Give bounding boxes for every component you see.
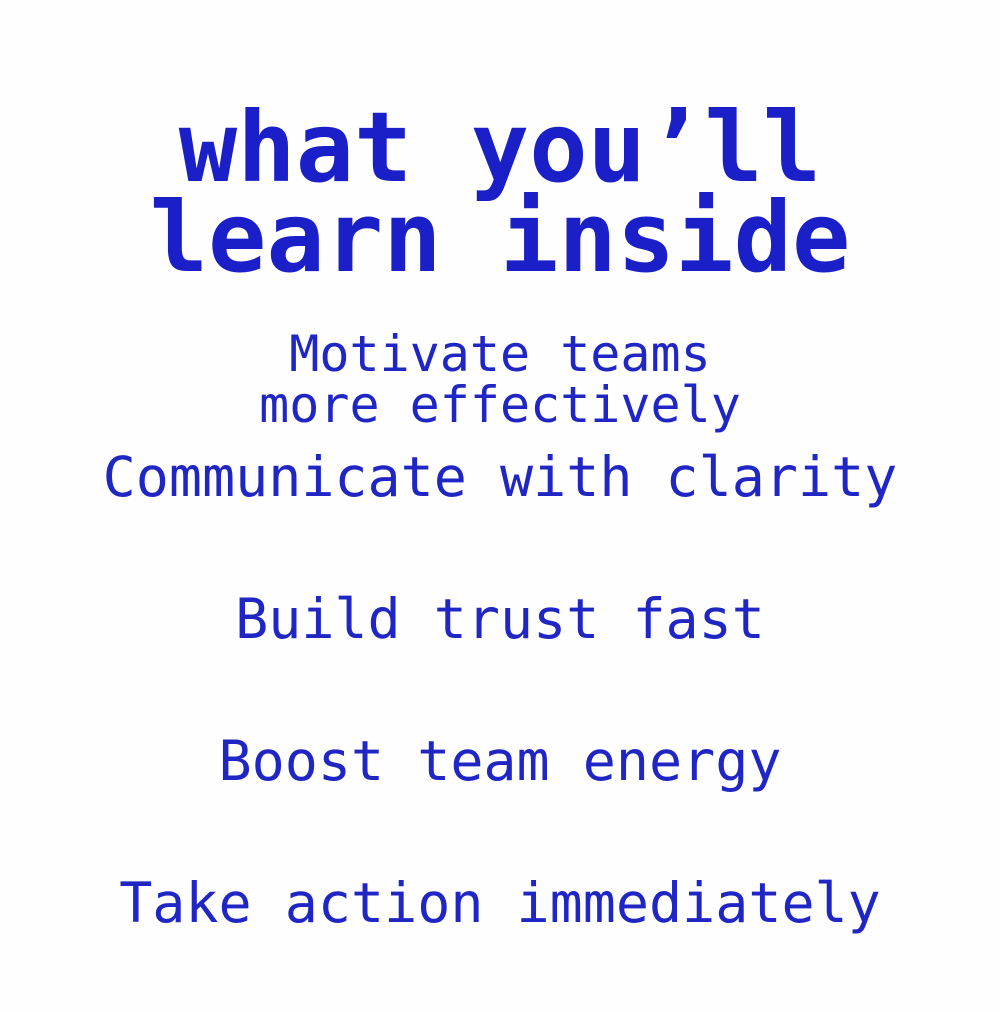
list-item: Build trust fast xyxy=(0,586,1000,728)
subtitle-line-1: Motivate teams xyxy=(0,329,1000,380)
page-title: what you’ll learn inside xyxy=(0,103,1000,283)
promo-slide: what you’ll learn inside Motivate teams … xyxy=(0,0,1000,1000)
benefit-list: Communicate with clarity Build trust fas… xyxy=(0,444,1000,1012)
subtitle-line-2: more effectively xyxy=(0,380,1000,431)
list-item: Communicate with clarity xyxy=(0,444,1000,586)
list-item: Boost team energy xyxy=(0,728,1000,870)
page-title-line-1: what you’ll xyxy=(0,103,1000,193)
subtitle: Motivate teams more effectively xyxy=(0,329,1000,431)
list-item: Take action immediately xyxy=(0,870,1000,1012)
page-title-line-2: learn inside xyxy=(0,193,1000,283)
